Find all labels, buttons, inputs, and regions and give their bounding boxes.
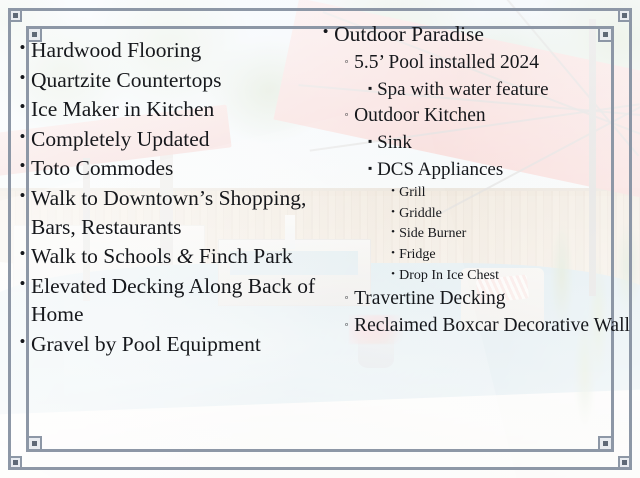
bullet-disc-icon: • <box>14 95 31 118</box>
list-item-label: DCS Appliances <box>377 157 503 182</box>
list-item: •Fridge <box>317 245 630 265</box>
list-item-label: Gravel by Pool Equipment <box>31 330 261 359</box>
list-item-label: Fridge <box>399 245 436 265</box>
list-item: •Side Burner <box>317 224 630 244</box>
list-item: •Ice Maker in Kitchen <box>14 95 317 124</box>
list-item: ▪Spa with water feature <box>317 77 630 102</box>
bullet-disc-icon: • <box>387 204 399 222</box>
list-item-label: Completely Updated <box>31 125 210 154</box>
list-item: •Walk to Schools & Finch Park <box>14 242 317 271</box>
list-item-label: Outdoor Paradise <box>334 20 484 49</box>
list-item: •Hardwood Flooring <box>14 36 317 65</box>
bullet-disc-icon: • <box>14 154 31 177</box>
bullet-disc-icon: • <box>387 183 399 201</box>
bullet-disc-icon: • <box>14 330 31 353</box>
list-item: •Walk to Downtown’s Shopping, Bars, Rest… <box>14 184 317 241</box>
list-item: •Elevated Decking Along Back of Home <box>14 272 317 329</box>
list-item-label: Side Burner <box>399 224 466 244</box>
bullet-square-icon: ▪ <box>363 77 377 100</box>
list-item: •Grill <box>317 183 630 203</box>
list-item-label: Travertine Decking <box>354 286 505 312</box>
left-feature-column: •Hardwood Flooring•Quartzite Countertops… <box>14 14 317 462</box>
left-feature-list: •Hardwood Flooring•Quartzite Countertops… <box>14 36 317 359</box>
list-item-label: Ice Maker in Kitchen <box>31 95 214 124</box>
right-feature-list: •Outdoor Paradise◦5.5’ Pool installed 20… <box>317 20 630 339</box>
bullet-disc-icon: • <box>14 125 31 148</box>
list-item: •Quartzite Countertops <box>14 66 317 95</box>
list-item: •Drop In Ice Chest <box>317 266 630 286</box>
list-item-label: Sink <box>377 130 412 155</box>
bullet-disc-icon: • <box>14 36 31 59</box>
list-item: ▪Sink <box>317 130 630 155</box>
bullet-square-icon: ▪ <box>363 130 377 153</box>
right-feature-column: •Outdoor Paradise◦5.5’ Pool installed 20… <box>317 14 630 462</box>
bullet-circle-icon: ◦ <box>339 313 354 337</box>
list-item-label: Drop In Ice Chest <box>399 266 499 286</box>
list-item: •Completely Updated <box>14 125 317 154</box>
list-item: ◦Travertine Decking <box>317 286 630 312</box>
list-item-label: 5.5’ Pool installed 2024 <box>354 50 539 76</box>
list-item-label: Elevated Decking Along Back of Home <box>31 272 317 329</box>
list-item: ◦Outdoor Kitchen <box>317 103 630 129</box>
bullet-disc-icon: • <box>14 272 31 295</box>
feature-slide: •Hardwood Flooring•Quartzite Countertops… <box>0 0 640 478</box>
list-item: •Gravel by Pool Equipment <box>14 330 317 359</box>
list-item-label: Griddle <box>399 204 442 224</box>
list-item: •Toto Commodes <box>14 154 317 183</box>
bullet-disc-icon: • <box>317 20 334 43</box>
list-item: ▪DCS Appliances <box>317 157 630 182</box>
list-item: •Griddle <box>317 204 630 224</box>
list-item-label: Hardwood Flooring <box>31 36 201 65</box>
list-item-label: Outdoor Kitchen <box>354 103 486 129</box>
bullet-disc-icon: • <box>387 245 399 263</box>
list-item-label: Reclaimed Boxcar Decorative Wall <box>354 313 630 339</box>
list-item: ◦5.5’ Pool installed 2024 <box>317 50 630 76</box>
bullet-square-icon: ▪ <box>363 157 377 180</box>
bullet-disc-icon: • <box>14 242 31 265</box>
bullet-circle-icon: ◦ <box>339 286 354 310</box>
bullet-disc-icon: • <box>387 266 399 284</box>
list-item-label: Grill <box>399 183 425 203</box>
bullet-circle-icon: ◦ <box>339 50 354 74</box>
list-item-label: Walk to Downtown’s Shopping, Bars, Resta… <box>31 184 317 241</box>
bullet-circle-icon: ◦ <box>339 103 354 127</box>
bullet-disc-icon: • <box>14 184 31 207</box>
list-item: ◦Reclaimed Boxcar Decorative Wall <box>317 313 630 339</box>
feature-lists: •Hardwood Flooring•Quartzite Countertops… <box>0 0 640 478</box>
list-item-label: Spa with water feature <box>377 77 548 102</box>
bullet-disc-icon: • <box>387 224 399 242</box>
bullet-disc-icon: • <box>14 66 31 89</box>
list-item-label: Walk to Schools & Finch Park <box>31 242 293 271</box>
list-item: •Outdoor Paradise <box>317 20 630 49</box>
list-item-label: Toto Commodes <box>31 154 173 183</box>
list-item-label: Quartzite Countertops <box>31 66 221 95</box>
